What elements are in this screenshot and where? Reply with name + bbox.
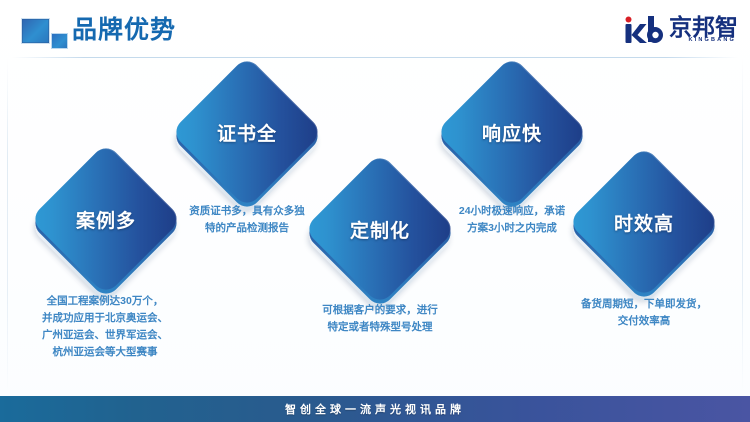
feature-description-1-line-2: 并成功应用于北京奥运会、 <box>5 310 205 327</box>
header-divider <box>12 57 738 58</box>
feature-card-5[interactable]: 时效高 <box>590 168 698 276</box>
feature-label-4: 响应快 <box>458 78 566 186</box>
diamond-shape-5: 时效高 <box>590 168 698 276</box>
feature-description-5-line-2: 交付效率高 <box>544 313 744 330</box>
feature-label-2: 证书全 <box>193 78 301 186</box>
logo-chinese-name: 京邦智 <box>669 15 738 39</box>
feature-description-5: 备货周期短，下单即发货， 交付效率高 <box>544 296 744 330</box>
feature-description-1-line-3: 广州亚运会、世界军运会、 <box>5 327 205 344</box>
feature-label-1: 案例多 <box>52 165 160 273</box>
diamond-shape-1: 案例多 <box>52 165 160 273</box>
logo-text-block: 京邦智 KINGBANG <box>669 18 738 42</box>
right-guide-line <box>742 58 743 392</box>
feature-description-5-line-1: 备货周期短，下单即发货， <box>544 296 744 313</box>
feature-label-5: 时效高 <box>590 168 698 276</box>
page-title: 品牌优势 <box>72 14 176 46</box>
kb-monogram-icon <box>619 15 665 45</box>
feature-description-3-line-2: 特定或者特殊型号处理 <box>280 319 480 336</box>
logo-english-name: KINGBANG <box>688 37 736 43</box>
slide-footer: 智创全球一流声光视讯品牌 <box>0 396 750 422</box>
feature-description-1-line-1: 全国工程案例达30万个， <box>5 293 205 310</box>
diamond-shape-4: 响应快 <box>458 78 566 186</box>
square-decoration-small-icon <box>51 33 68 49</box>
feature-card-4[interactable]: 响应快 <box>458 78 566 186</box>
feature-description-1: 全国工程案例达30万个， 并成功应用于北京奥运会、 广州亚运会、世界军运会、 杭… <box>5 293 205 361</box>
diamond-shape-2: 证书全 <box>193 78 301 186</box>
footer-slogan: 智创全球一流声光视讯品牌 <box>285 401 465 417</box>
feature-description-1-line-4: 杭州亚运会等大型赛事 <box>5 344 205 361</box>
feature-card-1[interactable]: 案例多 <box>52 165 160 273</box>
square-decoration-large-icon <box>21 18 50 44</box>
feature-card-2[interactable]: 证书全 <box>193 78 301 186</box>
brand-logo: 京邦智 KINGBANG <box>619 14 738 46</box>
slide-canvas: 品牌优势 京邦智 KINGBANG 案例多 全国工程案例 <box>0 0 750 422</box>
feature-description-3: 可根据客户的要求，进行 特定或者特殊型号处理 <box>280 302 480 336</box>
feature-description-3-line-1: 可根据客户的要求，进行 <box>280 302 480 319</box>
